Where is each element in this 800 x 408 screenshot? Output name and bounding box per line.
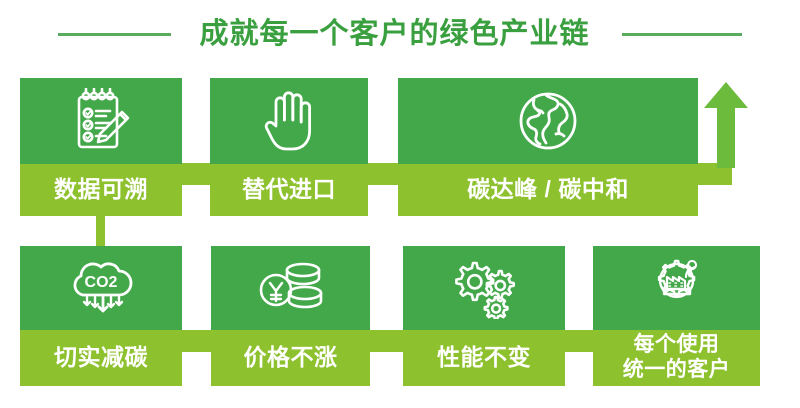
title-rule-left bbox=[58, 33, 171, 36]
connector-row2-card1-card2 bbox=[178, 330, 214, 352]
connector-row1-card2-card3 bbox=[366, 163, 402, 185]
globe-earth-icon bbox=[516, 89, 580, 153]
card-row2-price-stable[interactable]: 价格不涨 bbox=[211, 246, 370, 386]
card-row1-carbon-peak-neutrality[interactable]: 碳达峰 / 碳中和 bbox=[398, 78, 698, 216]
infographic-root: 成就每一个客户的绿色产业链 bbox=[0, 0, 800, 408]
growth-up-arrow bbox=[700, 82, 752, 168]
card-row2-real-carbon-reduction[interactable]: CO2 切实减碳 bbox=[20, 246, 182, 386]
connector-row2-card2-card3 bbox=[370, 330, 406, 352]
factory-gear-icon bbox=[644, 257, 710, 319]
coins-yuan-icon bbox=[255, 259, 327, 317]
card-row1-import-substitution[interactable]: 替代进口 bbox=[210, 78, 368, 216]
co2-cloud-down-arrows-icon: CO2 bbox=[65, 257, 137, 319]
card-label-line2: 统一的客户 bbox=[623, 358, 731, 383]
card-row1-data-traceable[interactable]: 数据可溯 bbox=[20, 78, 182, 216]
card-label-line1: 每个使用 bbox=[634, 333, 720, 358]
hand-stop-icon bbox=[262, 90, 316, 152]
card-label: 替代进口 bbox=[210, 164, 368, 216]
page-title: 成就每一个客户的绿色产业链 bbox=[199, 20, 589, 49]
clipboard-checklist-pencil-icon bbox=[70, 88, 132, 154]
icon-area bbox=[403, 246, 565, 330]
icon-area bbox=[398, 78, 698, 164]
card-label: 每个使用 统一的客户 bbox=[593, 330, 760, 386]
card-row2-unified-customer[interactable]: 每个使用 统一的客户 bbox=[593, 246, 760, 386]
icon-area bbox=[593, 246, 760, 330]
icon-area bbox=[210, 78, 368, 164]
card-label: 性能不变 bbox=[403, 330, 565, 386]
card-label: 切实减碳 bbox=[20, 330, 182, 386]
icon-area bbox=[20, 78, 182, 164]
title-rule-right bbox=[622, 33, 742, 36]
card-label: 碳达峰 / 碳中和 bbox=[398, 164, 698, 216]
card-row2-performance-unchanged[interactable]: 性能不变 bbox=[403, 246, 565, 386]
svg-text:CO2: CO2 bbox=[85, 274, 118, 291]
icon-area: CO2 bbox=[20, 246, 182, 330]
card-label: 数据可溯 bbox=[20, 164, 182, 216]
gears-icon bbox=[449, 257, 519, 319]
icon-area bbox=[211, 246, 370, 330]
connector-row1-card1-card2 bbox=[178, 163, 214, 185]
connector-row2-card3-card4 bbox=[561, 330, 597, 352]
page-title-row: 成就每一个客户的绿色产业链 bbox=[0, 10, 800, 58]
card-label: 价格不涨 bbox=[211, 330, 370, 386]
